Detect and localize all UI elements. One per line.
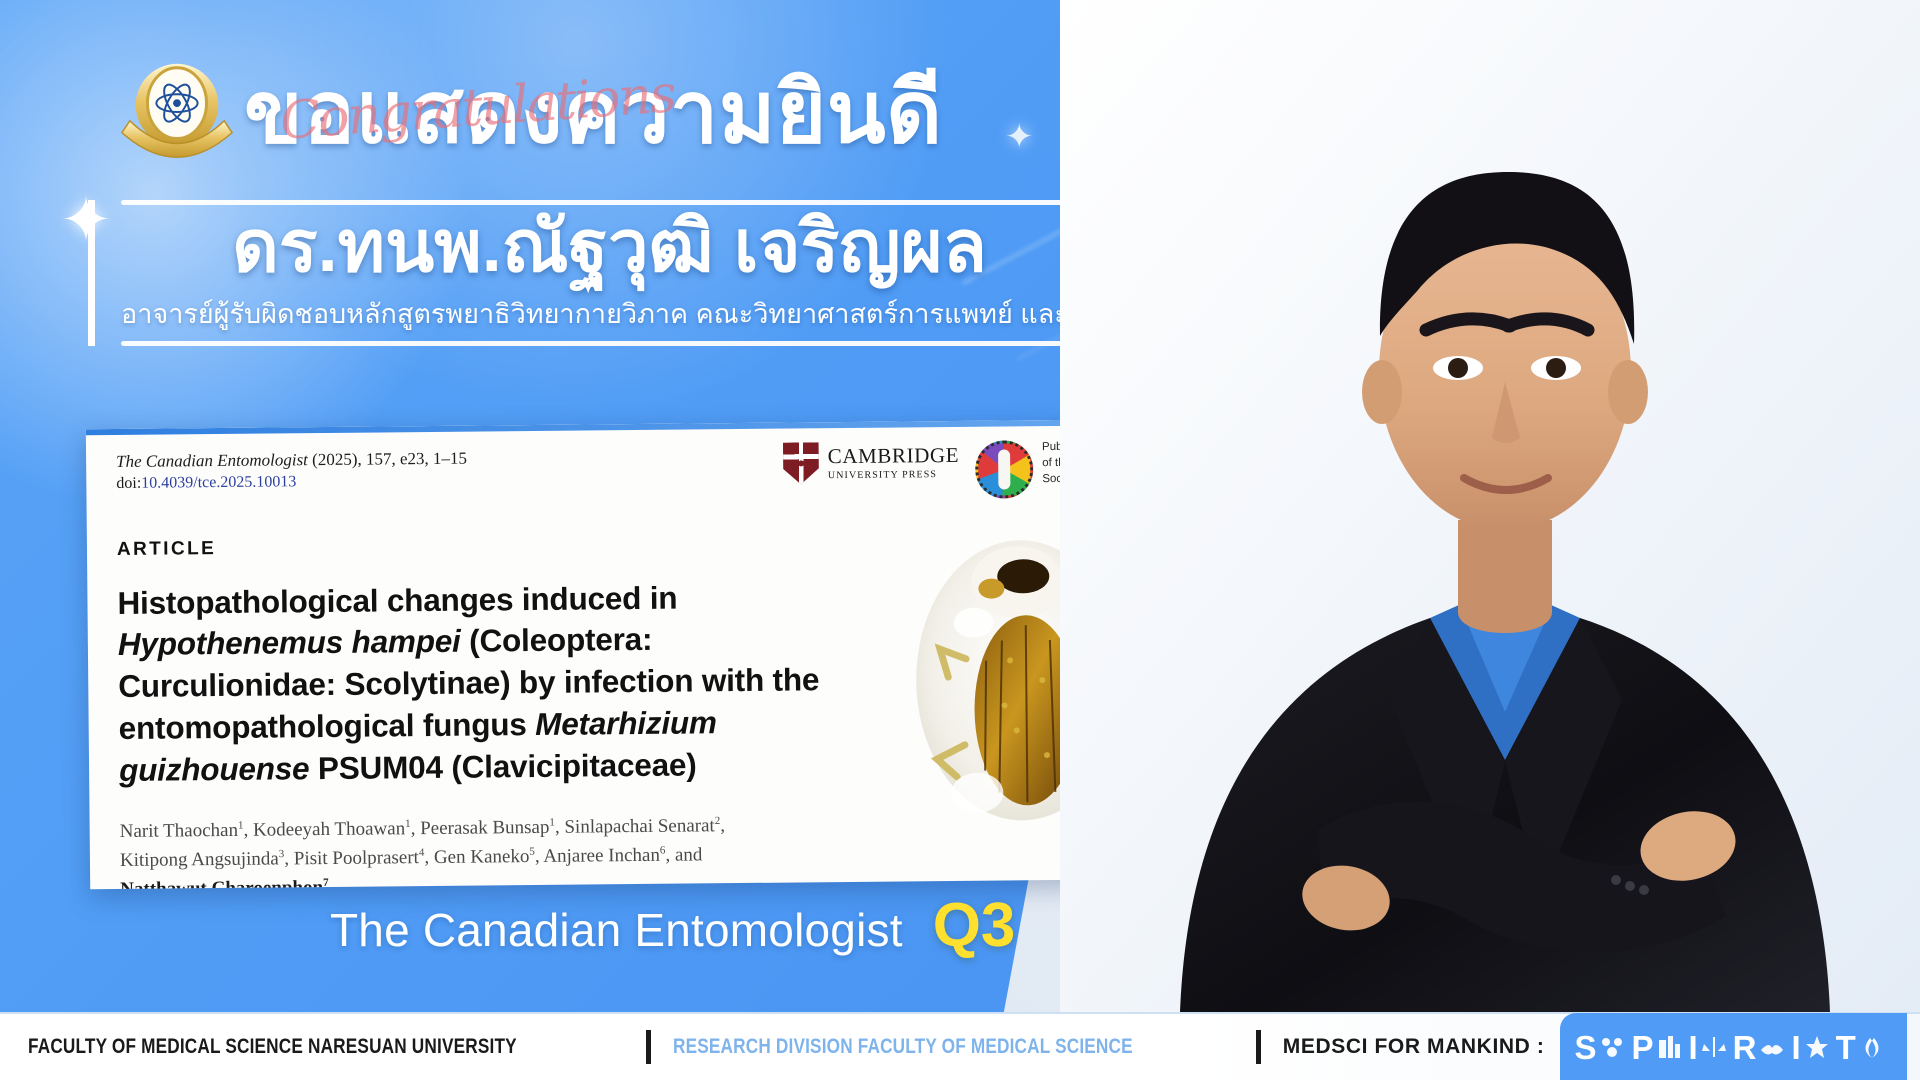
spirit-logo: SPIRIT xyxy=(1560,1013,1906,1080)
paper-doi-value[interactable]: 10.4039/tce.2025.10013 xyxy=(141,473,296,491)
paper-title-text: PSUM04 (Clavicipitaceae) xyxy=(309,747,696,787)
name-divider-top xyxy=(121,200,1098,205)
paper-citation-journal: The Canadian Entomologist xyxy=(116,450,308,471)
spirit-letter-i: I xyxy=(1688,1031,1697,1064)
footer-tagline: MEDSCI FOR MANKIND : xyxy=(1283,1035,1545,1059)
atom-emblem-icon xyxy=(118,52,236,170)
footer-divider xyxy=(1256,1030,1261,1064)
congratulations-poster: ✦ ✦ ✦ ขอ xyxy=(0,0,1920,1080)
name-divider-bottom xyxy=(121,341,1098,346)
spirit-letter-p: P xyxy=(1631,1031,1653,1064)
quartile-badge: Q3 xyxy=(933,898,1016,954)
spirit-letter-r: R xyxy=(1733,1031,1757,1064)
cambridge-university-press-logo: CAMBRIDGE UNIVERSITY PRESS xyxy=(783,441,960,485)
journal-name: The Canadian Entomologist xyxy=(330,903,903,957)
people-icon xyxy=(1599,1034,1625,1060)
spirit-letter-t: T xyxy=(1836,1031,1856,1064)
headline-row: ขอแสดงความยินดี xyxy=(118,46,1018,176)
balance-scale-icon xyxy=(1701,1034,1727,1060)
footer-divider xyxy=(646,1030,651,1064)
entomological-society-icon xyxy=(975,440,1034,499)
journal-badge: The Canadian Entomologist Q3 xyxy=(330,898,1015,957)
footer-research-division-label: RESEARCH DIVISION FACULTY OF MEDICAL SCI… xyxy=(673,1035,1133,1059)
paper-preview-card: The Canadian Entomologist (2025), 157, e… xyxy=(86,419,1190,890)
building-icon xyxy=(1656,1034,1682,1060)
name-block: ดร.ทนพ.ณัฐวุฒิ เจริญผล อาจารย์ผู้รับผิดช… xyxy=(88,200,1098,346)
doctor-name: ดร.ทนพ.ณัฐวุฒิ เจริญผล xyxy=(121,205,1098,290)
leaf-icon xyxy=(1859,1034,1885,1060)
doctor-role: อาจารย์ผู้รับผิดชอบหลักสูตรพยาธิวิทยากาย… xyxy=(121,290,1098,341)
portrait-photo xyxy=(1060,0,1920,1012)
headline-thai: ขอแสดงความยินดี xyxy=(244,43,943,180)
paper-title-species: Hypothenemus hampei xyxy=(118,623,461,662)
handshake-icon xyxy=(1759,1034,1785,1060)
publisher-name-line1: CAMBRIDGE xyxy=(828,444,960,466)
paper-citation-rest: (2025), 157, e23, 1–15 xyxy=(308,449,467,470)
spirit-letter-s: S xyxy=(1574,1031,1596,1064)
cambridge-shield-icon xyxy=(783,442,819,484)
publisher-name-line2: UNIVERSITY PRESS xyxy=(828,468,960,480)
paper-title-text: Histopathological changes induced in xyxy=(117,579,677,620)
footer-bar: FACULTY OF MEDICAL SCIENCE NARESUAN UNIV… xyxy=(0,1012,1920,1080)
innovation-icon xyxy=(1804,1034,1830,1060)
paper-authors: Narit Thaochan1, Kodeeyah Thoawan1, Peer… xyxy=(120,811,821,889)
footer-faculty-label: FACULTY OF MEDICAL SCIENCE NARESUAN UNIV… xyxy=(28,1035,517,1059)
paper-title: Histopathological changes induced in Hyp… xyxy=(117,576,839,792)
paper-doi-label: doi: xyxy=(116,474,141,491)
spirit-letter-i: I xyxy=(1791,1031,1800,1064)
